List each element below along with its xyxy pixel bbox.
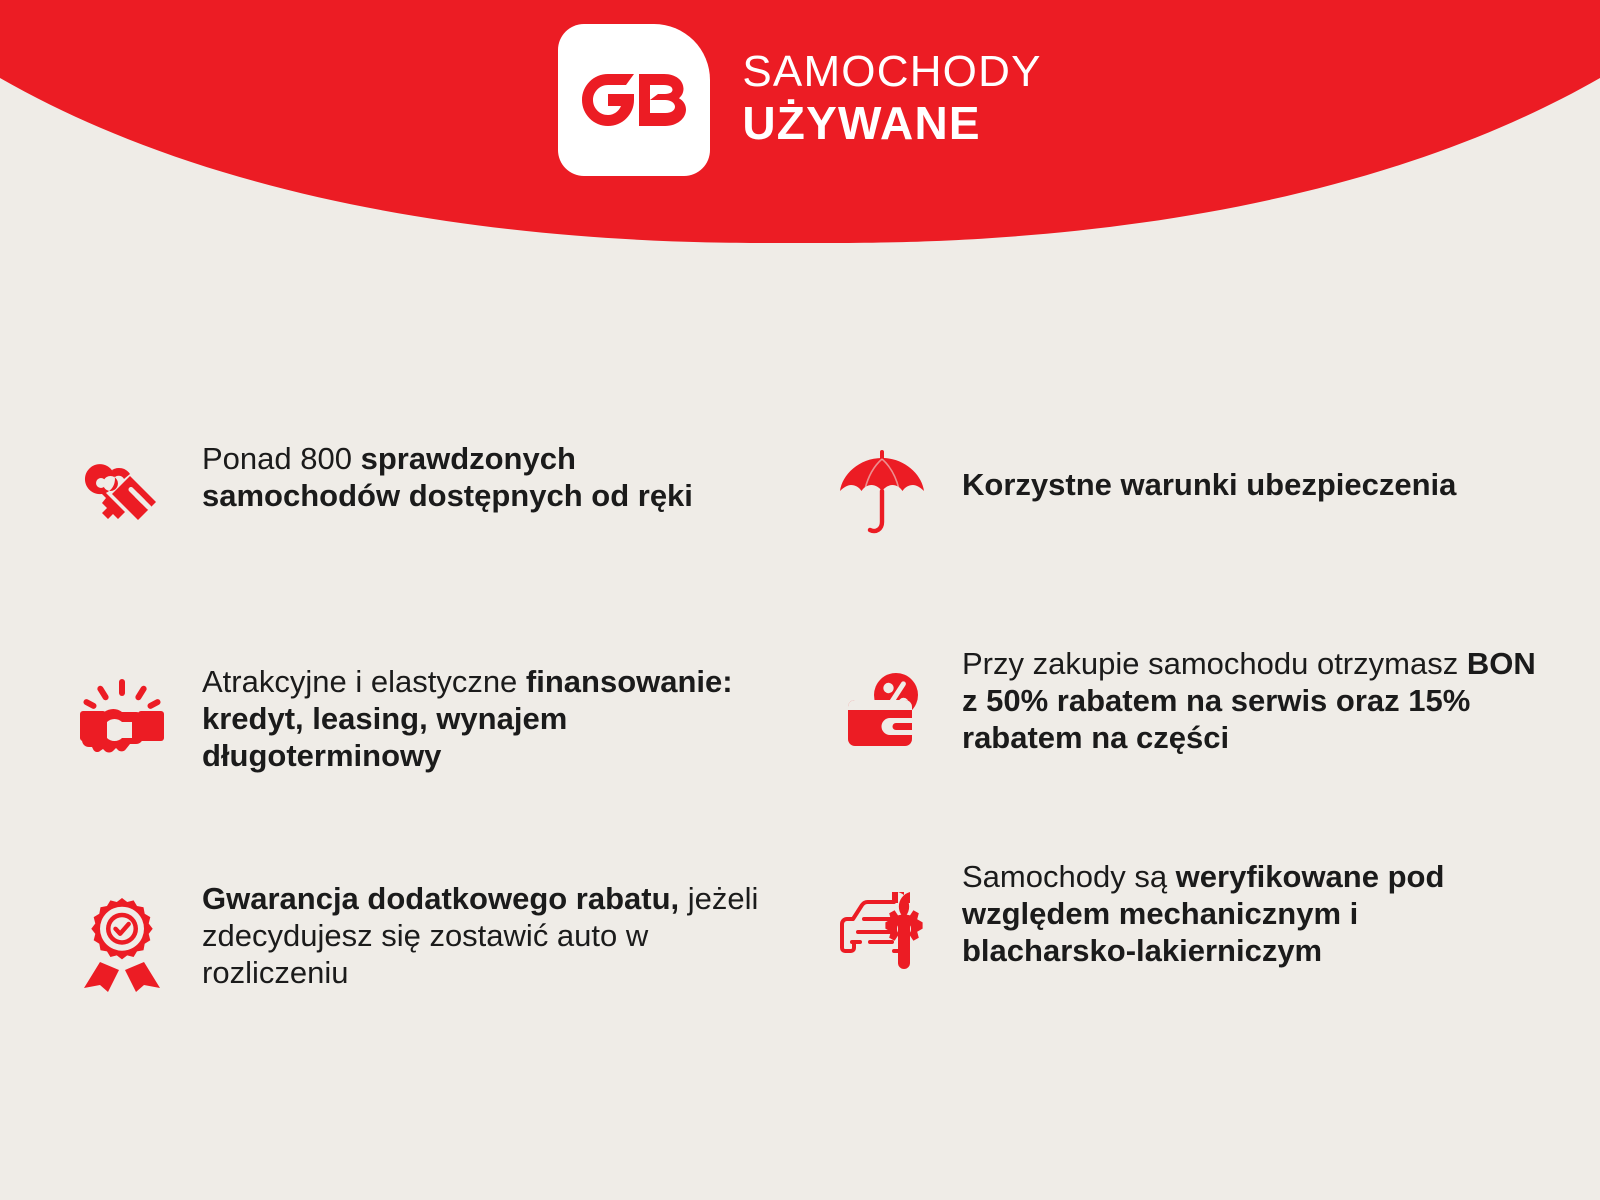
car-keys-icon [70,446,174,550]
feature-text-bold: Korzystne warunki ubezpieczenia [962,467,1456,502]
umbrella-icon [830,440,934,544]
gb-monogram-icon [582,74,686,126]
feature-text-insurance: Korzystne warunki ubezpieczenia [962,440,1540,503]
feature-text-bold: Gwarancja dodatkowego rabatu, [202,881,688,916]
feature-text-voucher: Przy zakupie samochodu otrzymasz BON z 5… [962,643,1540,756]
brand-line-uzywane: UŻYWANE [742,100,1041,146]
feature-text-guarantee: Gwarancja dodatkowego rabatu, jeżeli zde… [202,878,780,991]
brand-wordmark: SAMOCHODY UŻYWANE [742,50,1041,150]
feature-text-regular: Przy zakupie samochodu otrzymasz [962,646,1467,681]
feature-item-financing: Atrakcyjne i elastyczne finansowanie: kr… [60,661,780,856]
header-banner: SAMOCHODY UŻYWANE [0,0,1600,260]
feature-item-insurance: Korzystne warunki ubezpieczenia [820,440,1540,635]
feature-item-keys: Ponad 800 sprawdzonych samochodów dostęp… [60,438,780,633]
car-service-icon [830,870,934,974]
feature-item-verification: Samochody są weryfikowane pod względem m… [820,856,1540,1051]
feature-text-financing: Atrakcyjne i elastyczne finansowanie: kr… [202,661,780,774]
award-rosette-icon [70,892,174,996]
brand-lockup: SAMOCHODY UŻYWANE [0,0,1600,200]
features-grid: Ponad 800 sprawdzonych samochodów dostęp… [0,430,1600,1073]
feature-text-regular: Samochody są [962,859,1176,894]
feature-text-regular: Ponad 800 [202,441,361,476]
feature-text-verification: Samochody są weryfikowane pod względem m… [962,856,1540,969]
feature-text-keys: Ponad 800 sprawdzonych samochodów dostęp… [202,438,780,514]
feature-item-guarantee: Gwarancja dodatkowego rabatu, jeżeli zde… [60,878,780,1073]
brand-line-samochody: SAMOCHODY [742,50,1041,94]
wallet-percent-icon [830,659,934,763]
features-column-right: Korzystne warunki ubezpieczenia [820,430,1540,1073]
feature-text-regular: Atrakcyjne i elastyczne [202,664,526,699]
handshake-icon [70,667,174,771]
feature-item-voucher: Przy zakupie samochodu otrzymasz BON z 5… [820,643,1540,838]
features-column-left: Ponad 800 sprawdzonych samochodów dostęp… [60,430,780,1073]
gb-logo-tile[interactable] [558,24,710,176]
